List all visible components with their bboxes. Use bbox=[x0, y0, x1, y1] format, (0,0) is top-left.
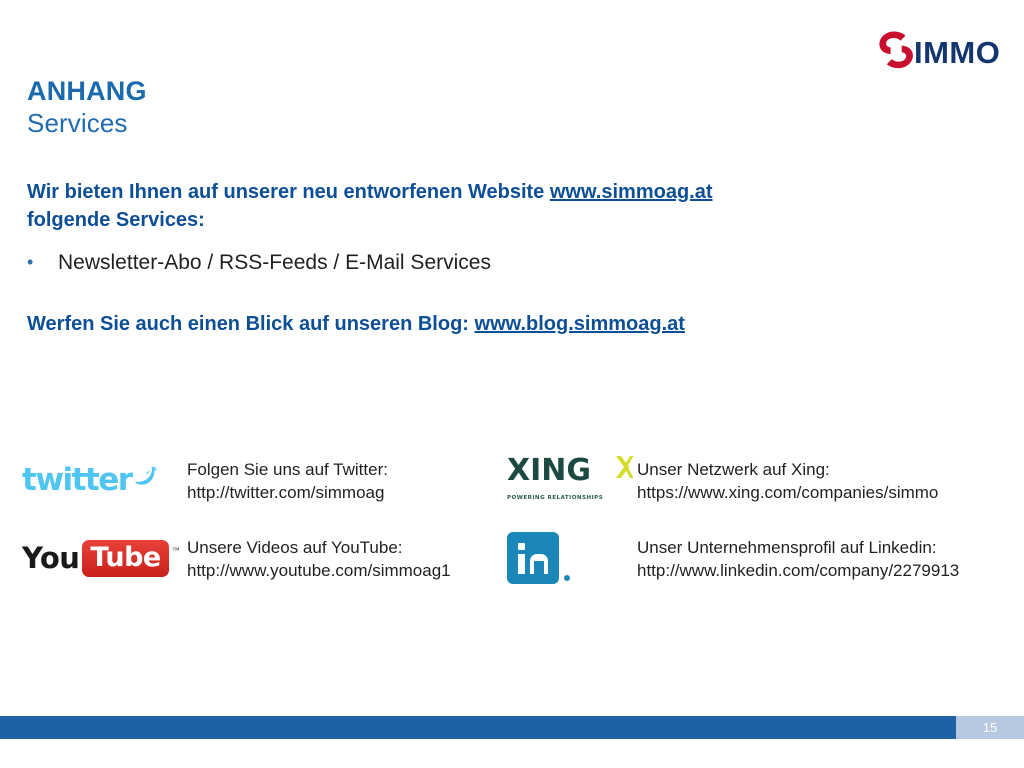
services-bullet-list: • Newsletter-Abo / RSS-Feeds / E-Mail Se… bbox=[27, 249, 927, 277]
xing-url[interactable]: https://www.xing.com/companies/simmo bbox=[637, 481, 938, 504]
social-row-1: twitter Folgen Sie uns auf Twitter: http… bbox=[22, 452, 1022, 508]
youtube-trademark-icon: ™ bbox=[172, 546, 180, 555]
social-entry-twitter[interactable]: twitter Folgen Sie uns auf Twitter: http… bbox=[22, 452, 507, 508]
youtube-wordmark-you: You bbox=[22, 544, 79, 573]
social-media-grid: twitter Folgen Sie uns auf Twitter: http… bbox=[22, 452, 1022, 608]
company-logo-wordmark: IMMO bbox=[914, 37, 1000, 68]
intro-text-after: folgende Services: bbox=[27, 209, 205, 231]
linkedin-in-icon bbox=[507, 532, 559, 584]
website-link[interactable]: www.simmoag.at bbox=[550, 181, 713, 203]
twitter-caption: Folgen Sie uns auf Twitter: bbox=[187, 458, 388, 481]
xing-text-group: XING POWERING RELATIONSHIPS bbox=[507, 456, 609, 504]
social-entry-youtube[interactable]: You Tube ™ Unsere Videos auf YouTube: ht… bbox=[22, 530, 507, 586]
youtube-caption: Unsere Videos auf YouTube: bbox=[187, 536, 451, 559]
linkedin-i-dot bbox=[518, 543, 525, 550]
twitter-caption-block: Folgen Sie uns auf Twitter: http://twitt… bbox=[187, 452, 388, 505]
linkedin-i-stem bbox=[518, 554, 525, 574]
twitter-wordmark: twitter bbox=[22, 465, 132, 496]
youtube-logo-box: You Tube ™ bbox=[22, 530, 187, 586]
page-title: ANHANG bbox=[27, 76, 147, 108]
xing-wordmark: XING bbox=[507, 453, 591, 488]
blog-text-before: Werfen Sie auch einen Blick auf unseren … bbox=[27, 313, 475, 335]
linkedin-n-notch bbox=[534, 561, 544, 574]
xing-tagline: POWERING RELATIONSHIPS bbox=[507, 495, 603, 501]
youtube-wordmark-tube: Tube bbox=[82, 540, 168, 577]
xing-x-mark-icon bbox=[611, 454, 637, 493]
page-number-badge: 15 bbox=[956, 716, 1024, 739]
blog-link[interactable]: www.blog.simmoag.at bbox=[475, 313, 685, 335]
xing-caption: Unser Netzwerk auf Xing: bbox=[637, 458, 938, 481]
social-entry-linkedin[interactable]: Unser Unternehmensprofil auf Linkedin: h… bbox=[507, 530, 1022, 586]
linkedin-caption: Unser Unternehmensprofil auf Linkedin: bbox=[637, 536, 959, 559]
twitter-logo: twitter bbox=[22, 465, 163, 496]
linkedin-caption-block: Unser Unternehmensprofil auf Linkedin: h… bbox=[637, 530, 959, 583]
page-title-block: ANHANG Services bbox=[27, 76, 147, 139]
linkedin-period-dot bbox=[564, 575, 570, 581]
bullet-dot-icon: • bbox=[27, 249, 58, 276]
linkedin-logo bbox=[507, 532, 570, 584]
social-entry-xing[interactable]: XING POWERING RELATIONSHIPS Unser Netzwe… bbox=[507, 452, 1022, 508]
intro-text-before: Wir bieten Ihnen auf unserer neu entworf… bbox=[27, 181, 550, 203]
page-subtitle: Services bbox=[27, 108, 147, 139]
linkedin-url[interactable]: http://www.linkedin.com/company/2279913 bbox=[637, 559, 959, 582]
xing-caption-block: Unser Netzwerk auf Xing: https://www.xin… bbox=[637, 452, 938, 505]
intro-paragraph: Wir bieten Ihnen auf unserer neu entworf… bbox=[27, 178, 947, 235]
youtube-caption-block: Unsere Videos auf YouTube: http://www.yo… bbox=[187, 530, 451, 583]
simmo-s-swirl-icon bbox=[872, 26, 920, 74]
blog-paragraph: Werfen Sie auch einen Blick auf unseren … bbox=[27, 310, 685, 338]
twitter-logo-box: twitter bbox=[22, 452, 187, 508]
youtube-logo: You Tube ™ bbox=[22, 540, 180, 577]
list-item-label: Newsletter-Abo / RSS-Feeds / E-Mail Serv… bbox=[58, 249, 491, 277]
list-item: • Newsletter-Abo / RSS-Feeds / E-Mail Se… bbox=[27, 249, 927, 277]
xing-logo: XING POWERING RELATIONSHIPS bbox=[507, 456, 637, 504]
linkedin-logo-box bbox=[507, 530, 637, 586]
twitter-bird-icon bbox=[133, 462, 163, 493]
company-logo: IMMO bbox=[872, 24, 1002, 76]
xing-logo-box: XING POWERING RELATIONSHIPS bbox=[507, 452, 637, 508]
social-row-2: You Tube ™ Unsere Videos auf YouTube: ht… bbox=[22, 530, 1022, 586]
youtube-url[interactable]: http://www.youtube.com/simmoag1 bbox=[187, 559, 451, 582]
footer-bar bbox=[0, 716, 1024, 739]
twitter-url[interactable]: http://twitter.com/simmoag bbox=[187, 481, 388, 504]
